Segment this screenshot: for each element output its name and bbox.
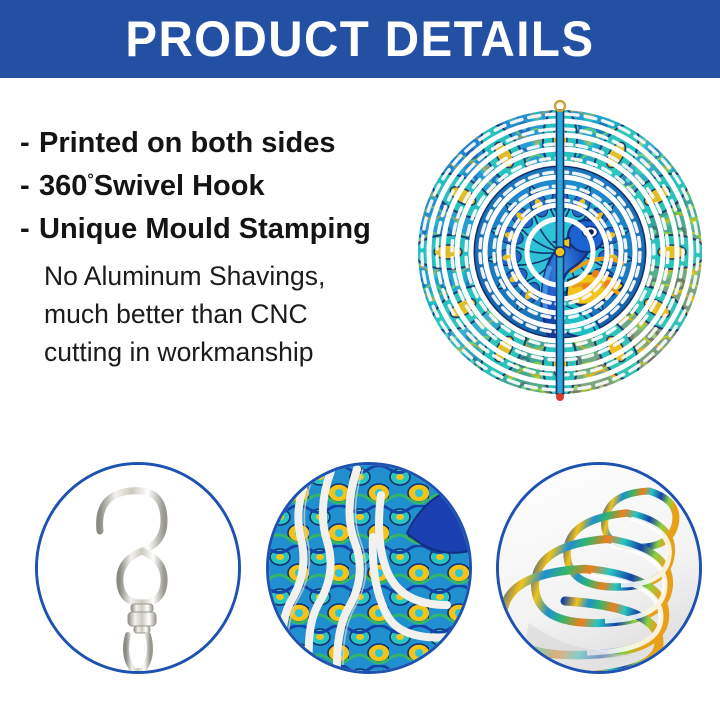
header-banner: PRODUCT DETAILS [0, 0, 720, 78]
swivel-hook-graphic [38, 465, 238, 671]
swivel-hook-label: Swivel Hook [94, 170, 265, 202]
detail-circle-printed-surface [266, 462, 472, 674]
peacock-wind-spinner-graphic [400, 84, 720, 406]
product-hero-image [400, 84, 720, 406]
feature-item-swivel: - 360°Swivel Hook [20, 165, 420, 208]
feature-item-swivel-label: 360°Swivel Hook [39, 165, 265, 208]
spinner-centre-spine [555, 101, 565, 401]
detail-circle-layered-edge [496, 462, 702, 674]
bullet-dash-icon: - [20, 165, 39, 208]
feature-description-line-1: No Aluminum Shavings, [44, 257, 384, 295]
page-title: PRODUCT DETAILS [125, 14, 594, 64]
detail-circle-swivel-hook [35, 462, 241, 674]
layered-edge-graphic [499, 465, 699, 671]
printed-surface-graphic [269, 465, 469, 671]
feature-description-line-3: cutting in workmanship [44, 333, 384, 371]
swivel-degrees-value: 360 [39, 170, 87, 202]
feature-item-mould-label: Unique Mould Stamping [39, 208, 371, 251]
bullet-dash-icon: - [20, 122, 39, 165]
feature-description: No Aluminum Shavings, much better than C… [44, 257, 384, 371]
feature-item-printed-label: Printed on both sides [39, 122, 335, 165]
feature-item-printed: - Printed on both sides [20, 122, 420, 165]
bullet-dash-icon: - [20, 208, 39, 251]
feature-list: - Printed on both sides - 360°Swivel Hoo… [20, 122, 420, 371]
feature-description-line-2: much better than CNC [44, 295, 384, 333]
feature-item-mould: - Unique Mould Stamping [20, 208, 420, 251]
